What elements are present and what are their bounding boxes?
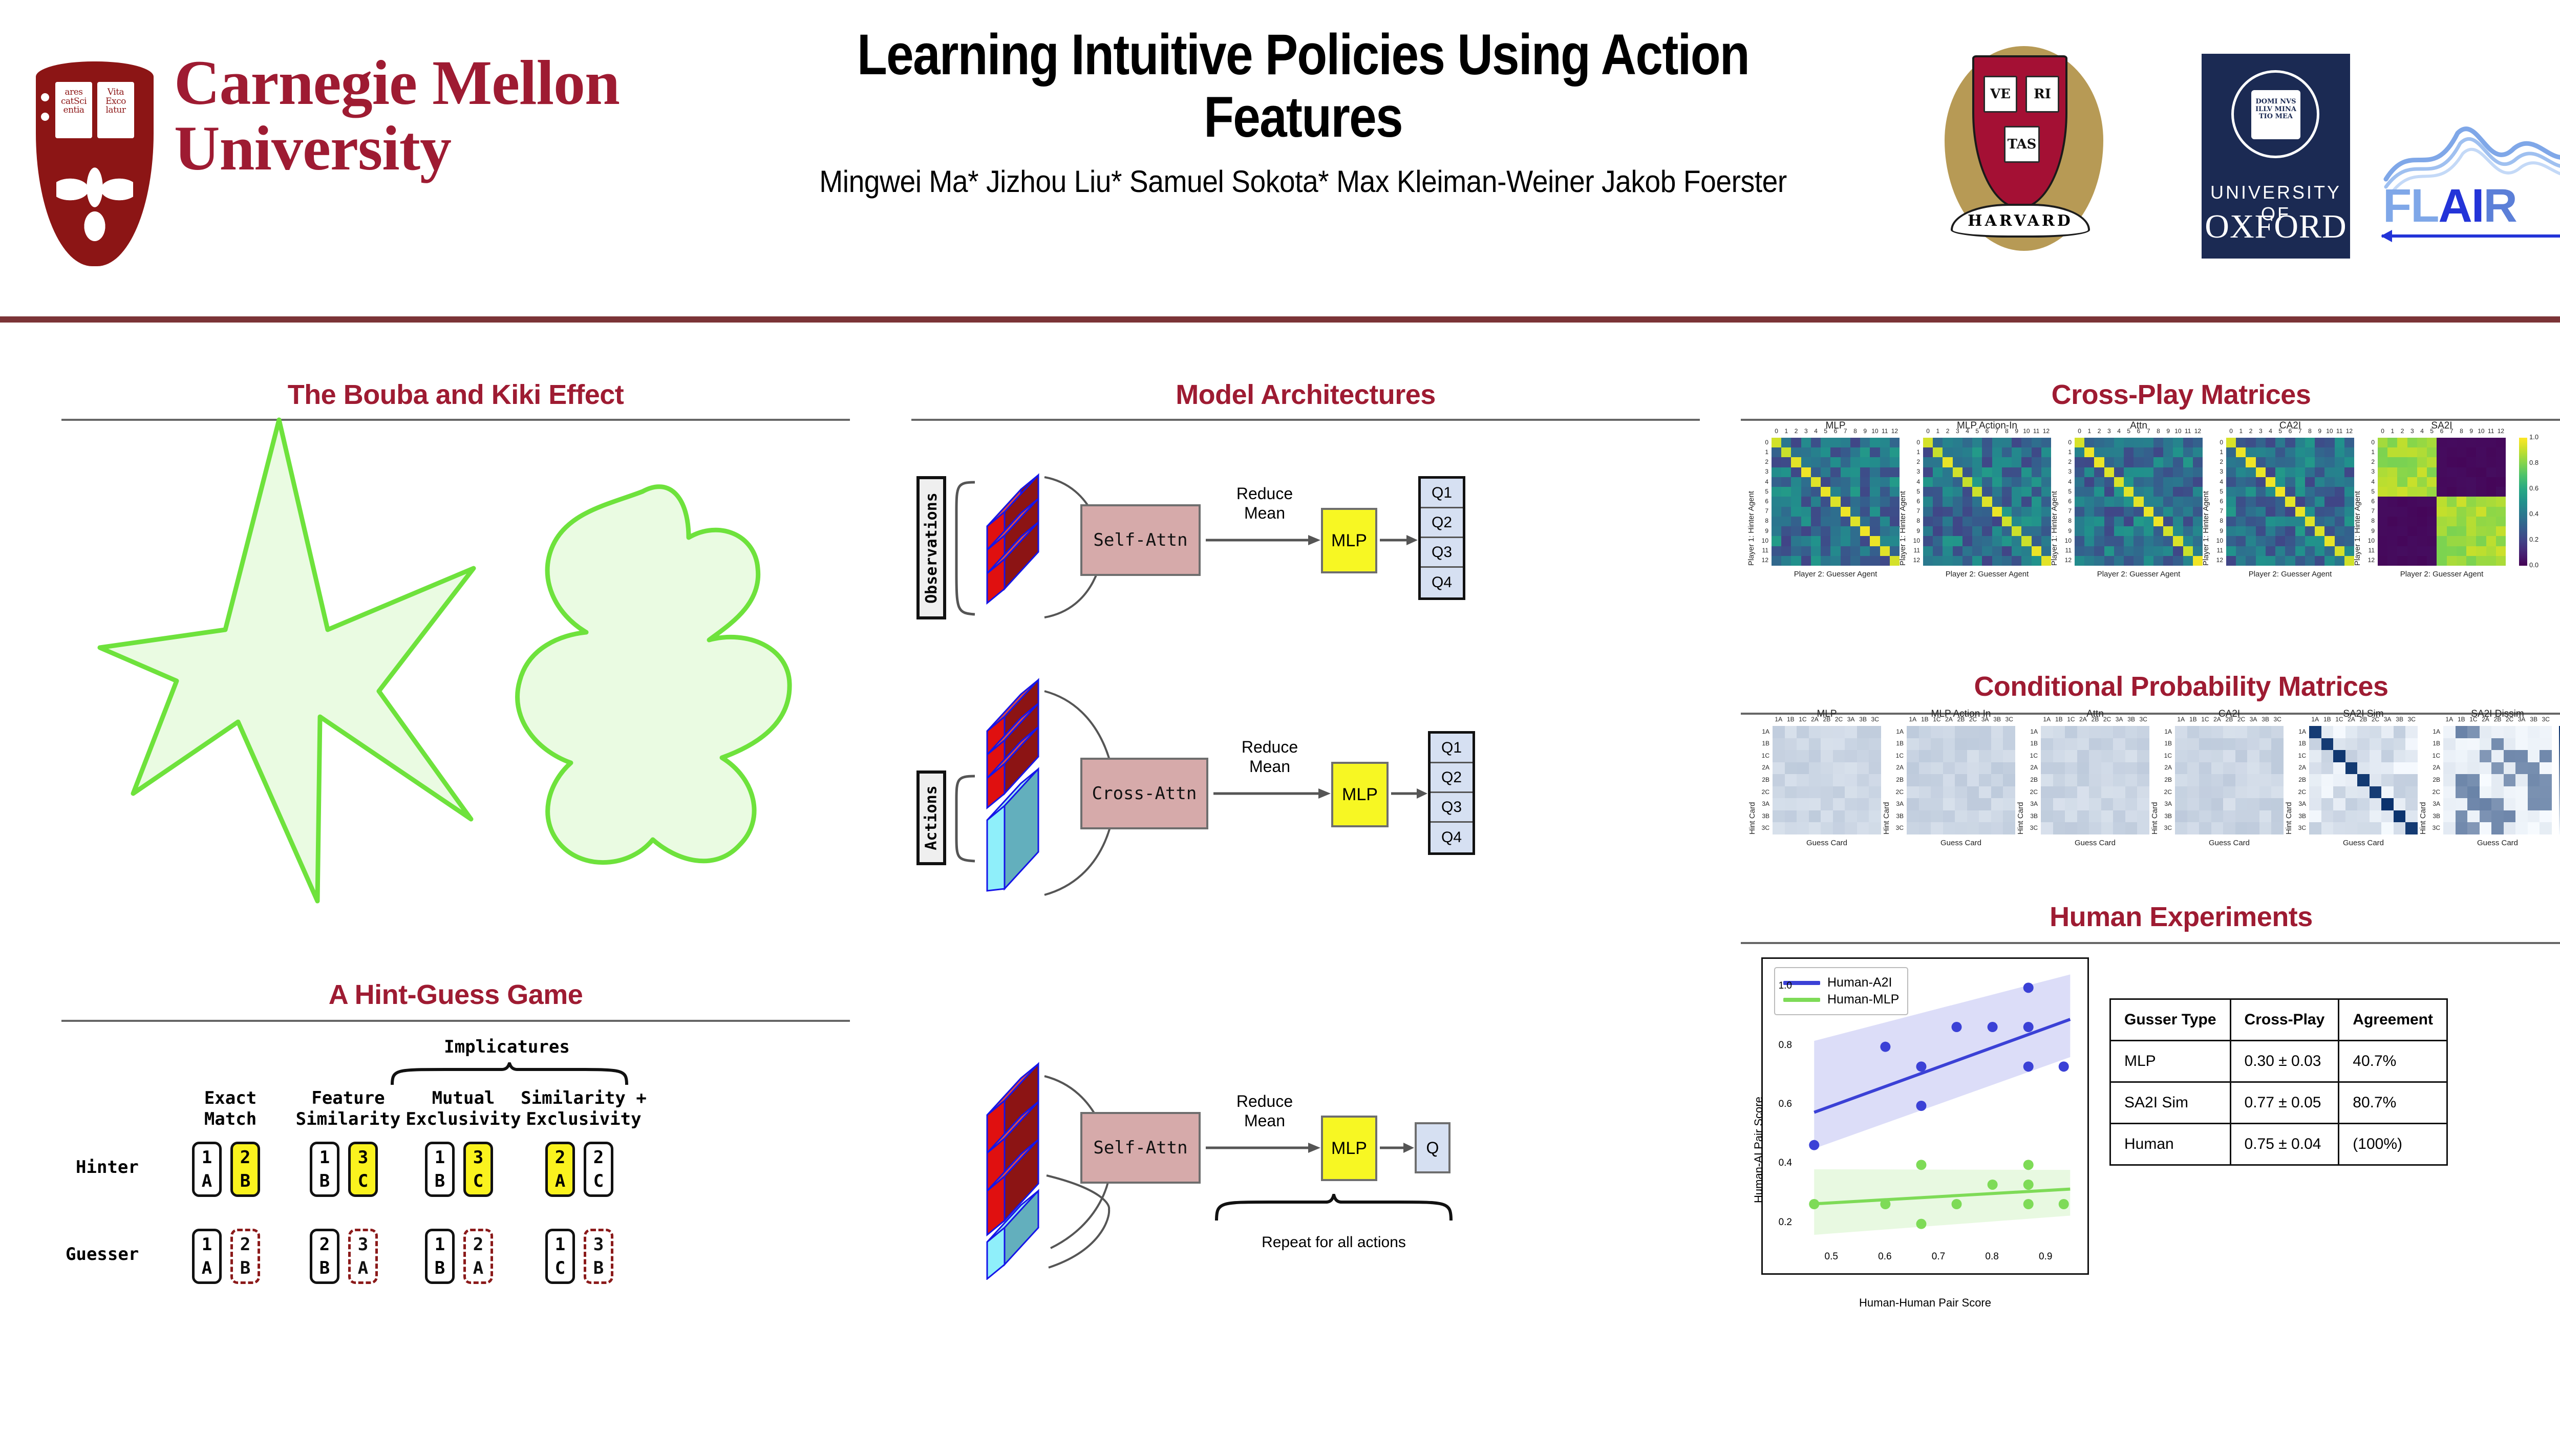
heatmap-cell bbox=[1821, 457, 1830, 467]
heatmap-cell bbox=[2173, 526, 2183, 536]
heatmap-cell bbox=[2496, 457, 2506, 467]
heatmap-cell bbox=[2053, 774, 2065, 786]
heatmap-cell bbox=[2427, 487, 2437, 497]
heatmap-cell bbox=[2053, 750, 2065, 762]
heatmap-cell bbox=[1833, 750, 1845, 762]
heatmap-cell bbox=[2075, 447, 2084, 457]
heatmap-cell bbox=[2333, 774, 2345, 786]
y-tick-label: 1C bbox=[1757, 752, 1769, 759]
heatmap-cell bbox=[2223, 822, 2235, 834]
heatmap-cell bbox=[2271, 774, 2284, 786]
heatmap-cell bbox=[2084, 546, 2094, 556]
heatmap-cell bbox=[2223, 810, 2235, 823]
heatmap-cell bbox=[1943, 507, 1952, 517]
heatmap-cell bbox=[1821, 517, 1830, 526]
heatmap-cell bbox=[2315, 497, 2324, 506]
heatmap-cell bbox=[1811, 497, 1821, 506]
heatmap-cell bbox=[1923, 467, 1933, 477]
heatmap-cell bbox=[2476, 556, 2486, 566]
heatmap-cell bbox=[1992, 487, 2002, 497]
y-axis-label: Player 1: Hinter Agent bbox=[2353, 491, 2362, 566]
heatmap-cell bbox=[2259, 774, 2272, 786]
heatmap-cell bbox=[2335, 447, 2344, 457]
heatmap-cell bbox=[1860, 526, 1870, 536]
x-tick-label: 0.6 bbox=[1872, 1251, 1897, 1262]
hinter-card-1-0: 1B bbox=[310, 1142, 339, 1197]
heatmap-cell bbox=[2381, 726, 2394, 738]
heatmap-cell bbox=[1791, 467, 1801, 477]
heatmap-cell bbox=[1982, 477, 1992, 487]
heatmap-cell bbox=[1979, 786, 1991, 799]
heatmap-cell bbox=[2266, 526, 2275, 536]
heatmap-cell bbox=[2528, 798, 2540, 810]
heatmap-cell bbox=[1967, 786, 1979, 799]
heatmap-cell bbox=[1785, 726, 1797, 738]
heatmap-cell bbox=[2021, 487, 2031, 497]
heatmap-cell bbox=[2315, 507, 2324, 517]
y-tick-label: 3A bbox=[1891, 800, 1904, 807]
heatmap-cell bbox=[2480, 798, 2492, 810]
heatmap-cell bbox=[2387, 447, 2397, 457]
heatmap-cell bbox=[2235, 738, 2248, 751]
heatmap-cell bbox=[1860, 457, 1870, 467]
heatmap-cell bbox=[2417, 536, 2427, 546]
heatmap-cell bbox=[2457, 447, 2466, 457]
colorbar-tick-label: 0.8 bbox=[2529, 459, 2538, 466]
heatmap-cell bbox=[1967, 822, 1979, 834]
heatmap-cell bbox=[2134, 497, 2143, 506]
heatmap-cell bbox=[2235, 750, 2248, 762]
heatmap-cell bbox=[2357, 774, 2370, 786]
heatmap-cell bbox=[2153, 526, 2163, 536]
heatmap-cell bbox=[2173, 457, 2183, 467]
heatmap-cell bbox=[2183, 477, 2193, 487]
heatmap-cell bbox=[2256, 526, 2266, 536]
table-row: MLP 0.30 ± 0.03 40.7% bbox=[2110, 1041, 2447, 1082]
heatmap-cell bbox=[2285, 447, 2295, 457]
heatmap-cell bbox=[2381, 738, 2394, 751]
heatmap-cell bbox=[1979, 774, 1991, 786]
heatmap-cell bbox=[1781, 497, 1791, 506]
y-axis-label: Hint Card bbox=[2150, 802, 2159, 834]
heatmap-cell bbox=[2447, 467, 2457, 477]
heatmap-cell bbox=[2125, 750, 2138, 762]
guesser-card-0-0: 1A bbox=[192, 1229, 222, 1284]
heatmap-cell bbox=[2094, 457, 2104, 467]
heatmap-cell bbox=[2124, 517, 2134, 526]
x-axis-label: Guess Card bbox=[2041, 839, 2149, 847]
heatmap-cell bbox=[1953, 546, 1962, 556]
heatmap-cell bbox=[1972, 467, 1982, 477]
heatmap-cell bbox=[2315, 467, 2324, 477]
heatmap-cell bbox=[2476, 536, 2486, 546]
heatmap-cell bbox=[2540, 798, 2552, 810]
heatmap-cell bbox=[2315, 526, 2324, 536]
heatmap-cell bbox=[2381, 822, 2394, 834]
heatmap-cell bbox=[1919, 738, 1931, 751]
heatmap-cell bbox=[2266, 497, 2275, 506]
heatmap-cell bbox=[2457, 438, 2466, 447]
heatmap-cell bbox=[2012, 487, 2021, 497]
heatmap-cell bbox=[1933, 457, 1943, 467]
heatmap-cell bbox=[2427, 497, 2437, 506]
heatmap-cell bbox=[2183, 546, 2193, 556]
heatmap-cell bbox=[1870, 556, 1880, 566]
heatmap-cell bbox=[2003, 726, 2015, 738]
heatmap-cell bbox=[2437, 438, 2446, 447]
heatmap-cell bbox=[2405, 810, 2418, 823]
heatmap-cell bbox=[2199, 774, 2211, 786]
heatmap-cell bbox=[1830, 546, 1840, 556]
heatmap-cell bbox=[2104, 438, 2114, 447]
heatmap-cell bbox=[2114, 536, 2124, 546]
heatmap-cell bbox=[2173, 438, 2183, 447]
heatmap-cell bbox=[1955, 798, 1967, 810]
heatmap-cell bbox=[1967, 810, 1979, 823]
heatmap-cell bbox=[2021, 526, 2031, 536]
heatmap-cell bbox=[1801, 487, 1811, 497]
heatmap-cell bbox=[2137, 774, 2149, 786]
x-axis-label: Guess Card bbox=[2443, 839, 2552, 847]
x-tick-label: 12 bbox=[2030, 427, 2063, 435]
bouba-shape-icon bbox=[518, 487, 790, 863]
heatmap-cell bbox=[2443, 786, 2456, 799]
heatmap-cell bbox=[2397, 438, 2407, 447]
heatmap-cell bbox=[1991, 726, 2003, 738]
heatmap-cell bbox=[2387, 438, 2397, 447]
repeat-for-all-actions-label: Repeat for all actions bbox=[1226, 1234, 1441, 1251]
heatmap-cell bbox=[1972, 517, 1982, 526]
heatmap-cell bbox=[2002, 556, 2012, 566]
y-tick-label: 8 bbox=[1756, 517, 1768, 524]
y-axis-label: Hint Card bbox=[2419, 802, 2427, 834]
heatmap-cell bbox=[1850, 546, 1860, 556]
heatmap-cell bbox=[1850, 507, 1860, 517]
heatmap-cell bbox=[2467, 762, 2480, 775]
heatmap-cell bbox=[2397, 497, 2407, 506]
heatmap-cell bbox=[2305, 447, 2315, 457]
heatmap-cell bbox=[2094, 517, 2104, 526]
heatmap-cell bbox=[1943, 526, 1952, 536]
heatmap-cell bbox=[2456, 774, 2468, 786]
heatmap-cell bbox=[2305, 467, 2315, 477]
heatmap-cell bbox=[1907, 822, 1919, 834]
heatmap-cell bbox=[2357, 726, 2370, 738]
heatmap-cell bbox=[1857, 810, 1869, 823]
heatmap-cell bbox=[2466, 546, 2476, 556]
heatmap-cell bbox=[2324, 438, 2334, 447]
heatmap-cell bbox=[2125, 774, 2138, 786]
heatmap-cell bbox=[1931, 726, 1943, 738]
heatmap-cell bbox=[2065, 762, 2077, 775]
heatmap-cell bbox=[1943, 774, 1955, 786]
heatmap-cell bbox=[1943, 497, 1952, 506]
heatmap-cell bbox=[2491, 798, 2504, 810]
heatmap-cell bbox=[2175, 786, 2187, 799]
heatmap-cell bbox=[2394, 798, 2406, 810]
heatmap-cell bbox=[2405, 822, 2418, 834]
arrow-to-mlp-1-icon bbox=[1206, 534, 1321, 546]
heatmap-cell bbox=[2084, 517, 2094, 526]
heatmap-cell bbox=[2104, 477, 2114, 487]
heatmap-cell bbox=[2309, 786, 2321, 799]
heatmap-cell bbox=[2236, 546, 2246, 556]
heatmap-cell bbox=[1791, 546, 1801, 556]
heatmap-grid bbox=[2309, 726, 2418, 834]
heatmap-cell bbox=[2101, 810, 2114, 823]
heatmap-cell bbox=[1869, 750, 1881, 762]
heatmap-cell bbox=[2175, 798, 2187, 810]
heatmap-cell bbox=[2041, 467, 2051, 477]
heatmap-cell bbox=[2275, 447, 2285, 457]
heatmap-cell bbox=[2378, 497, 2387, 506]
heatmap-cell bbox=[2370, 750, 2382, 762]
heatmap-cell bbox=[2315, 536, 2324, 546]
heatmap-cell bbox=[2137, 726, 2149, 738]
heatmap-cell bbox=[1797, 822, 1809, 834]
heatmap-cell bbox=[2236, 507, 2246, 517]
heatmap-cell bbox=[2077, 822, 2089, 834]
heatmap-cell bbox=[2480, 726, 2492, 738]
heatmap-cell bbox=[2335, 467, 2344, 477]
y-tick-label: 2C bbox=[1891, 788, 1904, 796]
heatmap-cell bbox=[2528, 726, 2540, 738]
heatmap-cell bbox=[2528, 786, 2540, 799]
x-tick-label: 0.9 bbox=[2033, 1251, 2058, 1262]
heatmap-cell bbox=[2387, 526, 2397, 536]
heatmap-cell bbox=[2124, 536, 2134, 546]
heatmap-cell bbox=[1801, 447, 1811, 457]
heatmap-cell bbox=[2480, 774, 2492, 786]
heatmap-cell bbox=[2199, 750, 2211, 762]
y-tick-label: 12 bbox=[1756, 556, 1768, 564]
heatmap-cell bbox=[2211, 810, 2224, 823]
heatmap-cell bbox=[1850, 467, 1860, 477]
heatmap-cell bbox=[1982, 447, 1992, 457]
heatmap-cell bbox=[2305, 438, 2315, 447]
heatmap-cell bbox=[2515, 798, 2528, 810]
heatmap-cell bbox=[2427, 556, 2437, 566]
heatmap-cell bbox=[2246, 477, 2255, 487]
scatter-y-axis-label: Human-AI Pair Score bbox=[1752, 1097, 1765, 1203]
heatmap-cell bbox=[1870, 536, 1880, 546]
heatmap-cell bbox=[2173, 477, 2183, 487]
heatmap-cell bbox=[2175, 726, 2187, 738]
heatmap-cell bbox=[1809, 786, 1821, 799]
heatmap-cell bbox=[2387, 457, 2397, 467]
heatmap-cell bbox=[2417, 457, 2427, 467]
heatmap-cell bbox=[2504, 786, 2516, 799]
y-tick-label: 7 bbox=[2362, 507, 2375, 515]
heatmap-cell bbox=[2309, 810, 2321, 823]
heatmap-cell bbox=[2266, 536, 2275, 546]
heatmap-cell bbox=[1801, 546, 1811, 556]
heatmap-cell bbox=[1811, 526, 1821, 536]
heatmap-cell bbox=[1869, 810, 1881, 823]
heatmap-cell bbox=[1919, 750, 1931, 762]
heatmap-cell bbox=[2012, 457, 2021, 467]
heatmap-cell bbox=[2175, 774, 2187, 786]
heatmap-cell bbox=[1972, 477, 1982, 487]
heatmap-cell bbox=[1797, 762, 1809, 775]
heatmap-cell bbox=[2285, 487, 2295, 497]
heatmap-cell bbox=[1811, 546, 1821, 556]
heatmap-cell bbox=[2540, 810, 2552, 823]
heatmap-cell bbox=[2378, 526, 2387, 536]
heatmap-cell bbox=[1791, 457, 1801, 467]
heatmap-cell bbox=[1811, 457, 1821, 467]
heatmap-cell bbox=[1781, 536, 1791, 546]
heatmap-cell bbox=[1773, 750, 1785, 762]
heatmap-cell bbox=[2089, 762, 2101, 775]
heatmap-cell bbox=[2124, 556, 2134, 566]
heatmap-cell bbox=[2077, 738, 2089, 751]
y-axis-label: Hint Card bbox=[2016, 802, 2025, 834]
repeat-brace-icon bbox=[1213, 1194, 1454, 1223]
heatmap-cell bbox=[1781, 477, 1791, 487]
oxford-logo: DOMI NVS ILLV MINA TIO MEA UNIVERSITY OF… bbox=[2202, 54, 2350, 259]
q-cell: Q3 bbox=[1421, 538, 1463, 568]
heatmap-cell bbox=[2266, 546, 2275, 556]
heatmap-cell bbox=[2114, 477, 2124, 487]
heatmap-cell bbox=[2417, 447, 2427, 457]
heatmap-cell bbox=[2427, 477, 2437, 487]
heatmap-cell bbox=[1967, 726, 1979, 738]
y-tick-label: 1 bbox=[1756, 448, 1768, 456]
heatmap-cell bbox=[1850, 497, 1860, 506]
heatmap-cell bbox=[2114, 457, 2124, 467]
heatmap-cell bbox=[2089, 786, 2101, 799]
heatmap-cell bbox=[1972, 438, 1982, 447]
heatmap-cell bbox=[2480, 822, 2492, 834]
cell-crossplay: 0.77 ± 0.05 bbox=[2230, 1082, 2339, 1124]
heatmap-cell bbox=[1992, 517, 2002, 526]
cell-agreement: (100%) bbox=[2339, 1124, 2447, 1165]
y-tick-label: 1A bbox=[2428, 728, 2440, 735]
heatmap-cell bbox=[2271, 810, 2284, 823]
y-tick-label: 6 bbox=[2059, 498, 2072, 505]
y-tick-label: 0 bbox=[2059, 439, 2072, 446]
q-cell: Q1 bbox=[1421, 479, 1463, 508]
scatter-point bbox=[1988, 1180, 1998, 1190]
heatmap-cell bbox=[2094, 526, 2104, 536]
y-tick-label: 4 bbox=[1908, 478, 1920, 485]
heatmap-cell bbox=[2528, 762, 2540, 775]
heatmap-cell bbox=[2381, 762, 2394, 775]
heatmap-cell bbox=[2437, 467, 2446, 477]
reduce-mean-label-2: ReduceMean bbox=[1224, 737, 1316, 777]
heatmap-cell bbox=[1797, 738, 1809, 751]
heatmap-cell bbox=[2466, 467, 2476, 477]
heatmap-cell bbox=[1870, 447, 1880, 457]
heatmap-cell bbox=[2259, 786, 2272, 799]
y-tick-label: 4 bbox=[1756, 478, 1768, 485]
scatter-plot: Human-A2I Human-MLP bbox=[1761, 957, 2089, 1275]
heatmap-cell bbox=[2387, 497, 2397, 506]
heatmap-cell bbox=[1962, 556, 1972, 566]
heatmap-cell bbox=[2104, 536, 2114, 546]
heatmap-cell bbox=[2041, 786, 2053, 799]
heatmap-cell bbox=[2187, 786, 2200, 799]
heatmap-cell bbox=[2173, 487, 2183, 497]
heatmap-cell bbox=[2256, 467, 2266, 477]
heatmap-cell bbox=[2486, 507, 2496, 517]
heatmap-cell bbox=[2466, 556, 2476, 566]
heatmap-cell bbox=[1785, 762, 1797, 775]
heatmap-cell bbox=[2256, 536, 2266, 546]
hinter-card-1-1: 3C bbox=[348, 1142, 378, 1197]
heatmap-cell bbox=[1833, 762, 1845, 775]
heatmap-cell bbox=[2134, 457, 2143, 467]
heatmap-cell bbox=[2199, 762, 2211, 775]
heatmap-cell bbox=[1991, 750, 2003, 762]
heatmap-cell bbox=[1907, 738, 1919, 751]
observations-brace-icon bbox=[947, 480, 978, 617]
heatmap-cell bbox=[2447, 546, 2457, 556]
heatmap-cell bbox=[1923, 497, 1933, 506]
heatmap-cell bbox=[1797, 810, 1809, 823]
heatmap-cell bbox=[2324, 457, 2334, 467]
y-axis-label: Hint Card bbox=[2285, 802, 2293, 834]
heatmap-cell bbox=[2173, 497, 2183, 506]
heatmap-cell bbox=[2256, 487, 2266, 497]
heatmap-cell bbox=[1797, 798, 1809, 810]
heatmap-cell bbox=[2175, 810, 2187, 823]
heatmap-cell bbox=[2094, 556, 2104, 566]
heatmap-cell bbox=[2476, 447, 2486, 457]
heatmap-cell bbox=[1943, 810, 1955, 823]
heatmap-cell bbox=[2443, 810, 2456, 823]
heatmap-cell bbox=[2114, 517, 2124, 526]
heatmap-cell bbox=[2226, 526, 2236, 536]
heatmap-cell bbox=[2163, 477, 2173, 487]
heatmap-cell bbox=[2407, 438, 2417, 447]
heatmap-cell bbox=[2021, 447, 2031, 457]
heatmap-cell bbox=[1953, 497, 1962, 506]
heatmap-cell bbox=[2387, 477, 2397, 487]
heatmap-cell bbox=[2075, 556, 2084, 566]
heatmap-cell bbox=[2032, 438, 2041, 447]
heatmap-cell bbox=[2183, 526, 2193, 536]
heatmap-cell bbox=[1773, 738, 1785, 751]
scatter-point bbox=[1809, 1199, 1819, 1209]
y-tick-label: 9 bbox=[1756, 527, 1768, 534]
heatmap-cell bbox=[1943, 798, 1955, 810]
heatmap-cell bbox=[1943, 546, 1952, 556]
table-header-row: Gusser Type Cross-Play Agreement bbox=[2110, 999, 2447, 1041]
heatmap-cell bbox=[1923, 507, 1933, 517]
heatmap-cell bbox=[2457, 467, 2466, 477]
x-tick-label: 0.7 bbox=[1926, 1251, 1951, 1262]
heatmap-cell bbox=[2256, 457, 2266, 467]
heatmap-cell bbox=[2315, 517, 2324, 526]
y-axis-label: Player 1: Hinter Agent bbox=[1898, 491, 1907, 566]
heatmap-cell bbox=[2496, 556, 2506, 566]
heatmap-cell bbox=[1841, 457, 1850, 467]
heatmap-cell bbox=[2447, 438, 2457, 447]
y-tick-label: 0.2 bbox=[1768, 1217, 1792, 1228]
heatmap-cell bbox=[2134, 467, 2143, 477]
cmu-eagle-icon bbox=[56, 148, 133, 251]
y-tick-label: 7 bbox=[2211, 507, 2223, 515]
heatmap-cell bbox=[1801, 526, 1811, 536]
heatmap-cell bbox=[1857, 762, 1869, 775]
heatmap-cell bbox=[2041, 438, 2051, 447]
heatmap-cell bbox=[2357, 750, 2370, 762]
heatmap-cell bbox=[2003, 822, 2015, 834]
heatmap-cell bbox=[2447, 507, 2457, 517]
heatmap-cell bbox=[2457, 517, 2466, 526]
